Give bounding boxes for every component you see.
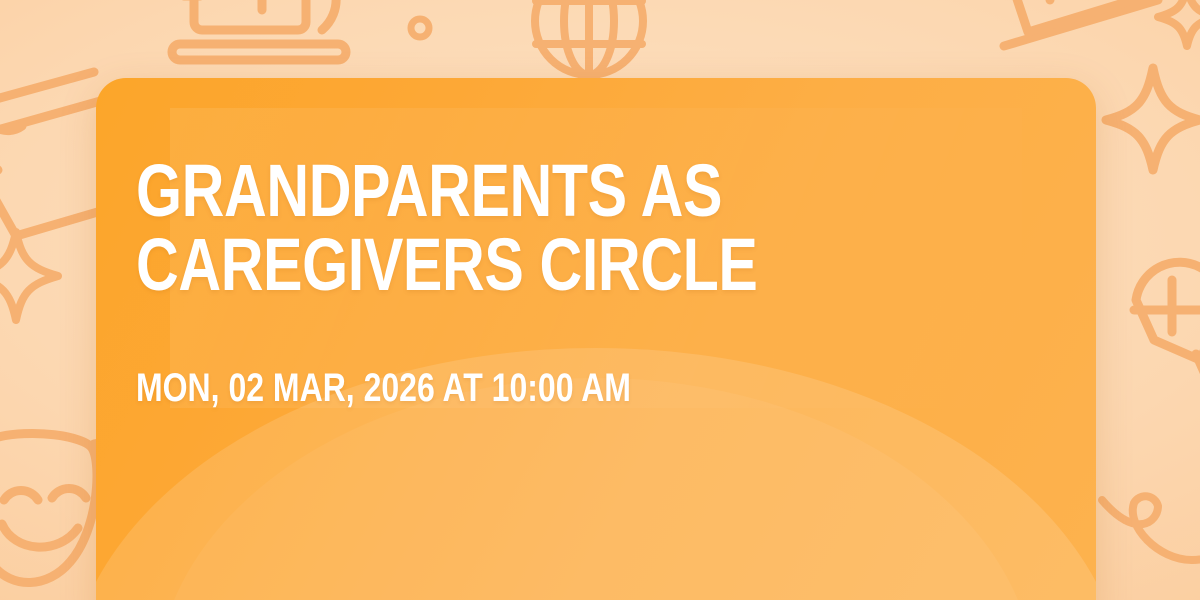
microphone-icon bbox=[1112, 238, 1200, 418]
clapperboard-icon bbox=[980, 0, 1180, 84]
event-title: Grandparents as Caregivers Circle bbox=[136, 78, 1056, 302]
event-card[interactable]: Grandparents as Caregivers Circle Mon, 0… bbox=[96, 78, 1096, 600]
sparkle-icon bbox=[0, 226, 64, 326]
globe-icon bbox=[524, 0, 654, 86]
confetti-icon bbox=[400, 8, 440, 48]
event-card-content: Grandparents as Caregivers Circle Mon, 0… bbox=[136, 78, 1056, 408]
laptop-icon bbox=[162, 0, 352, 84]
event-poster: Grandparents as Caregivers Circle Mon, 0… bbox=[0, 0, 1200, 600]
card-circle-decoration-inner bbox=[156, 378, 1036, 600]
streamer-swirl-icon bbox=[1096, 468, 1200, 600]
event-datetime: Mon, 02 Mar, 2026 at 10:00 AM bbox=[136, 302, 1056, 408]
